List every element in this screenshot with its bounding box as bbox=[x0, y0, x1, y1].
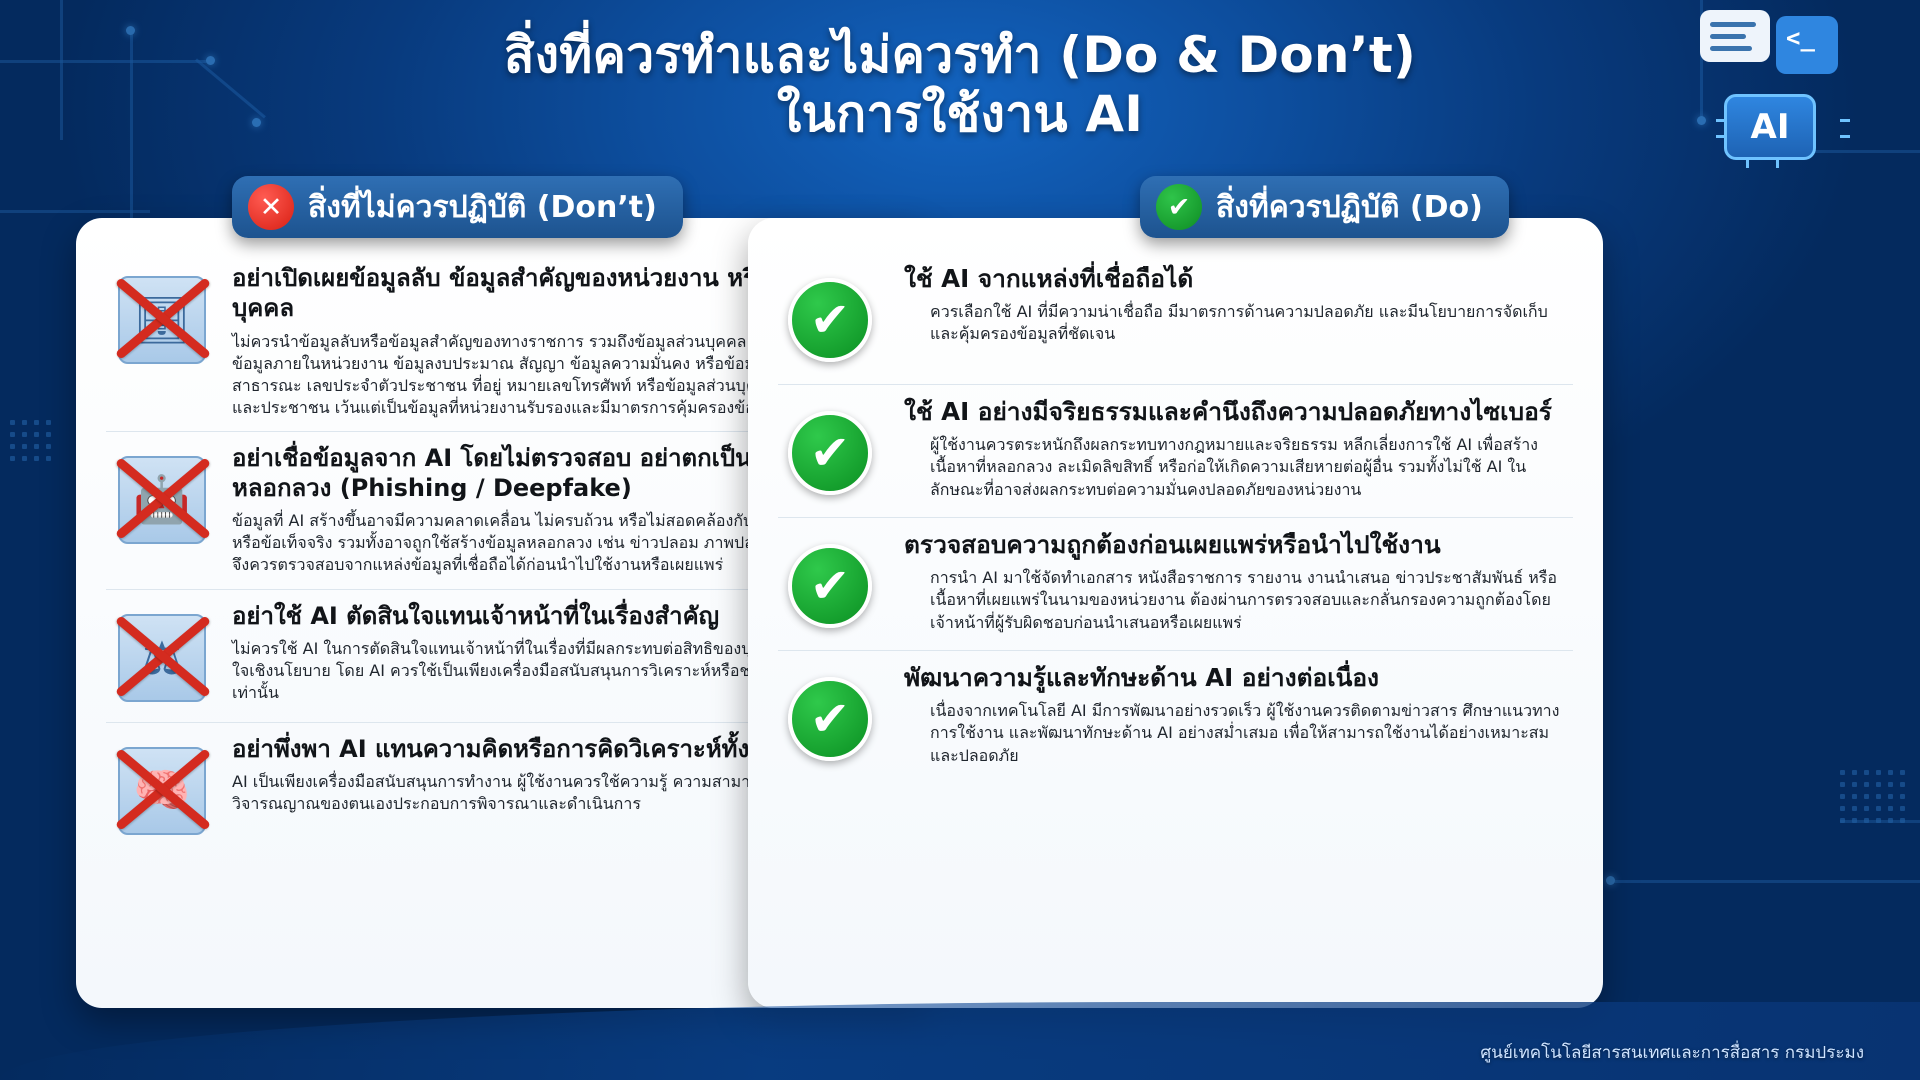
item-body: ควรเลือกใช้ AI ที่มีความน่าเชื่อถือ มีมา… bbox=[930, 301, 1569, 345]
list-item: ✔ใช้ AI อย่างมีจริยธรรมและคำนึงถึงความปล… bbox=[778, 384, 1573, 517]
title-line-1: สิ่งที่ควรทำและไม่ควรทำ (Do & Don’t) bbox=[504, 26, 1416, 84]
check-icon: ✔ bbox=[1156, 184, 1202, 230]
robot-question-icon: 🤖 bbox=[110, 448, 214, 552]
green-check-icon: ✔ bbox=[788, 411, 872, 495]
brain-gear-icon: 🧠 bbox=[110, 739, 214, 843]
green-check-icon: ✔ bbox=[788, 677, 872, 761]
item-title: ตรวจสอบความถูกต้องก่อนเผยแพร่หรือนำไปใช้… bbox=[904, 530, 1569, 560]
infographic-canvas: สิ่งที่ควรทำและไม่ควรทำ (Do & Don’t) ในก… bbox=[0, 0, 1920, 1080]
item-text: พัฒนาความรู้และทักษะด้าน AI อย่างต่อเนื่… bbox=[904, 663, 1569, 767]
item-body: เนื่องจากเทคโนโลยี AI มีการพัฒนาอย่างรวด… bbox=[930, 700, 1569, 766]
page-title: สิ่งที่ควรทำและไม่ควรทำ (Do & Don’t) ในก… bbox=[0, 26, 1920, 144]
title-line-2: ในการใช้งาน AI bbox=[0, 85, 1920, 144]
dont-header-label: สิ่งที่ไม่ควรปฏิบัติ (Don’t) bbox=[308, 184, 657, 231]
code-bubble-icon: <_ bbox=[1776, 16, 1838, 74]
item-text: ใช้ AI จากแหล่งที่เชื่อถือได้ควรเลือกใช้… bbox=[904, 264, 1569, 346]
chat-bubble-icon bbox=[1700, 10, 1770, 62]
green-check-icon: ✔ bbox=[788, 278, 872, 362]
list-item: ✔ตรวจสอบความถูกต้องก่อนเผยแพร่หรือนำไปใช… bbox=[778, 517, 1573, 650]
item-body: การนำ AI มาใช้จัดทำเอกสาร หนังสือราชการ … bbox=[930, 567, 1569, 633]
gavel-icon: ⚖ bbox=[110, 606, 214, 710]
green-check-icon: ✔ bbox=[788, 544, 872, 628]
ai-logo: <_ AI bbox=[1690, 8, 1880, 168]
item-text: ใช้ AI อย่างมีจริยธรรมและคำนึงถึงความปลอ… bbox=[904, 397, 1569, 501]
footer-credit: ศูนย์เทคโนโลยีสารสนเทศและการสื่อสาร กรมป… bbox=[1480, 1039, 1864, 1066]
do-panel-header: ✔ สิ่งที่ควรปฏิบัติ (Do) bbox=[1140, 176, 1509, 238]
do-panel: ✔ใช้ AI จากแหล่งที่เชื่อถือได้ควรเลือกใช… bbox=[748, 218, 1603, 1008]
list-item: ✔ใช้ AI จากแหล่งที่เชื่อถือได้ควรเลือกใช… bbox=[778, 252, 1573, 384]
item-text: ตรวจสอบความถูกต้องก่อนเผยแพร่หรือนำไปใช้… bbox=[904, 530, 1569, 634]
do-list: ✔ใช้ AI จากแหล่งที่เชื่อถือได้ควรเลือกใช… bbox=[778, 252, 1573, 783]
list-item: ✔พัฒนาความรู้และทักษะด้าน AI อย่างต่อเนื… bbox=[778, 650, 1573, 783]
folder-lock-icon: 🗄 bbox=[110, 268, 214, 372]
item-title: พัฒนาความรู้และทักษะด้าน AI อย่างต่อเนื่… bbox=[904, 663, 1569, 693]
do-header-label: สิ่งที่ควรปฏิบัติ (Do) bbox=[1216, 184, 1483, 231]
cross-icon: ✕ bbox=[248, 184, 294, 230]
item-title: ใช้ AI อย่างมีจริยธรรมและคำนึงถึงความปลอ… bbox=[904, 397, 1569, 427]
dont-panel-header: ✕ สิ่งที่ไม่ควรปฏิบัติ (Don’t) bbox=[232, 176, 683, 238]
item-title: ใช้ AI จากแหล่งที่เชื่อถือได้ bbox=[904, 264, 1569, 294]
ai-chip-icon: AI bbox=[1724, 94, 1816, 160]
person-chart-icon: ✔ bbox=[782, 667, 886, 771]
balance-scale-icon: ✔ bbox=[782, 401, 886, 505]
verified-shield-icon: ✔ bbox=[782, 268, 886, 372]
item-body: ผู้ใช้งานควรตระหนักถึงผลกระทบทางกฎหมายแล… bbox=[930, 434, 1569, 500]
document-check-icon: ✔ bbox=[782, 534, 886, 638]
code-glyph: <_ bbox=[1776, 16, 1838, 52]
